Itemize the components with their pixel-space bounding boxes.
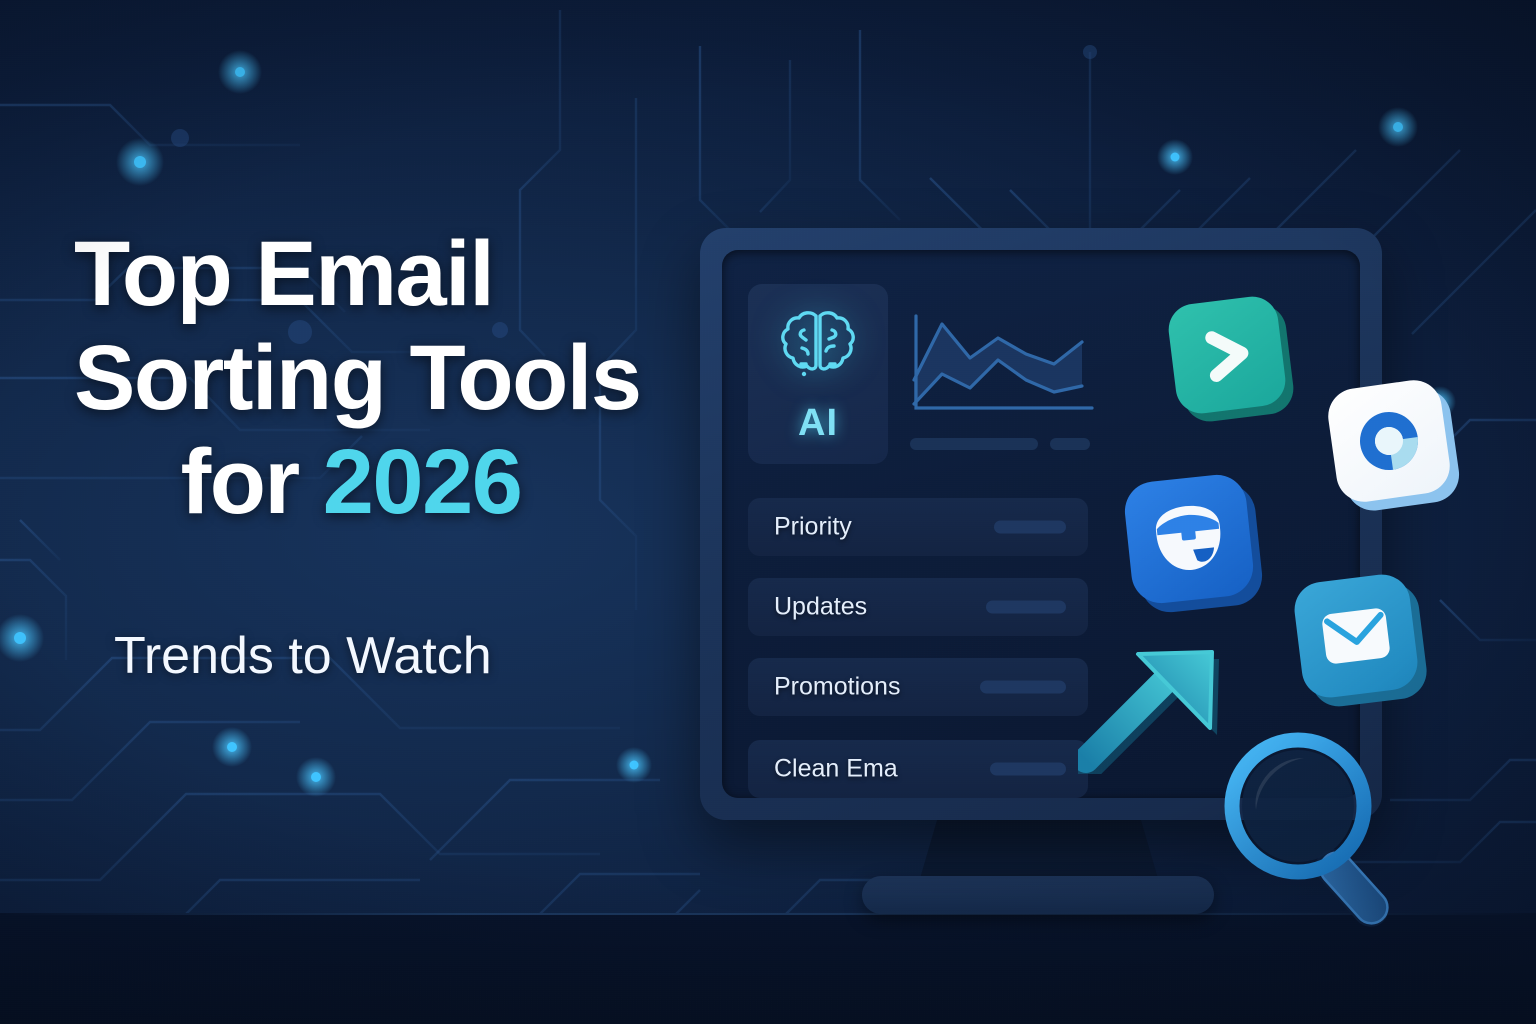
list-item[interactable]: Updates bbox=[748, 578, 1088, 636]
chart-skeleton-bar-1 bbox=[910, 438, 1038, 450]
headline-line-2: Sorting Tools bbox=[74, 326, 714, 430]
headline-line-3: for 2026 bbox=[74, 430, 714, 534]
list-item-label: Updates bbox=[774, 593, 867, 622]
headline-for-text: for bbox=[181, 431, 323, 533]
chevron-right-app-icon[interactable] bbox=[1166, 294, 1289, 417]
list-item-label: Priority bbox=[774, 513, 852, 542]
ai-label: AI bbox=[748, 402, 888, 445]
chart-skeleton-bar-2 bbox=[1050, 438, 1090, 450]
subtitle: Trends to Watch bbox=[114, 626, 714, 686]
area-chart-icon bbox=[908, 308, 1098, 418]
ai-card[interactable]: AI bbox=[748, 284, 888, 464]
list-item[interactable]: Promotions bbox=[748, 658, 1088, 716]
magnifying-glass-icon bbox=[1222, 730, 1408, 930]
list-item[interactable]: Priority bbox=[748, 498, 1088, 556]
monitor-neck bbox=[919, 816, 1159, 882]
headline-year-accent: 2026 bbox=[323, 431, 522, 533]
list-item-label: Promotions bbox=[774, 673, 900, 702]
headline-block: Top Email Sorting Tools for 2026 bbox=[74, 222, 714, 534]
brain-icon bbox=[766, 298, 870, 407]
monitor-base bbox=[862, 876, 1214, 914]
headline-line-1: Top Email bbox=[74, 222, 714, 326]
list-item-label: Clean Ema bbox=[774, 755, 898, 784]
trend-arrow-icon bbox=[1078, 648, 1246, 774]
list-item-bar bbox=[986, 601, 1066, 614]
hero-banner: Top Email Sorting Tools for 2026 Trends … bbox=[0, 0, 1536, 1024]
mail-app-icon[interactable] bbox=[1291, 571, 1420, 700]
list-item-bar bbox=[994, 521, 1066, 534]
sanebox-app-icon[interactable] bbox=[1122, 472, 1256, 606]
clean-email-app-icon[interactable] bbox=[1325, 377, 1454, 506]
list-item-bar bbox=[980, 681, 1066, 694]
list-item[interactable]: Clean Ema bbox=[748, 740, 1088, 798]
list-item-bar bbox=[990, 763, 1066, 776]
